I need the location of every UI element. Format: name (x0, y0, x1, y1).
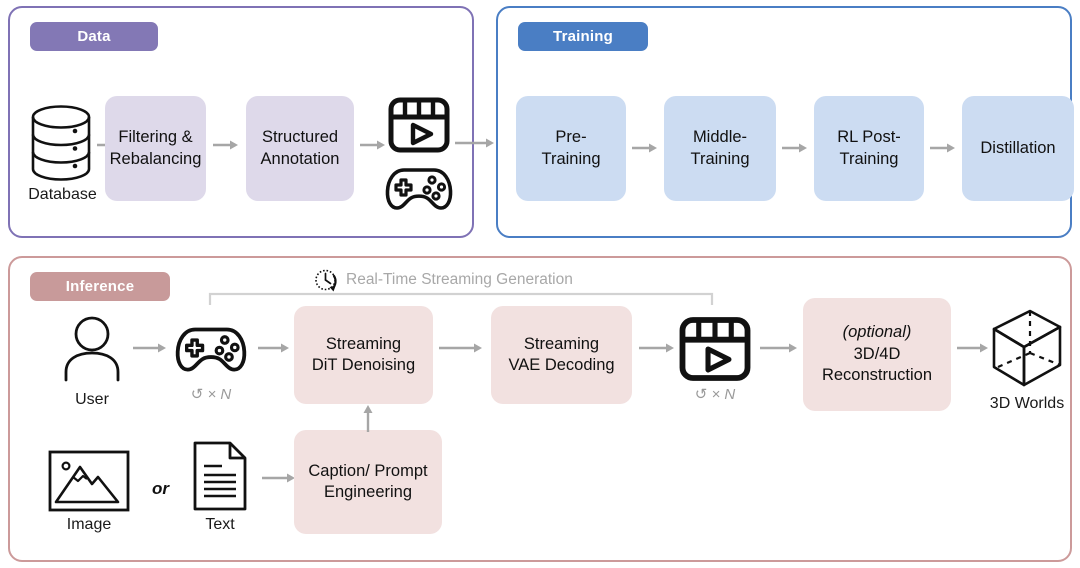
box-3d4d-reconstruction-line3: Reconstruction (822, 365, 932, 386)
text-document-icon (192, 440, 248, 512)
badge-data: Data (30, 22, 158, 51)
controller-loop-text: × N (207, 386, 231, 403)
arrow-caption-to-dit (362, 404, 374, 432)
image-caption: Image (45, 516, 133, 534)
gamepad-icon (384, 163, 454, 213)
box-streaming-dit-denoising: Streaming DiT Denoising (294, 306, 433, 404)
box-caption-prompt-engineering-label: Caption/ Prompt Engineering (308, 461, 427, 503)
loop-title: Real-Time Streaming Generation (346, 271, 573, 289)
arrow-rl-to-distillation (930, 142, 956, 154)
video-icon (388, 97, 450, 153)
loop-glyph: ↺ (191, 386, 204, 403)
box-rl-post-training: RL Post- Training (814, 96, 924, 201)
badge-training: Training (518, 22, 648, 51)
arrow-controller-to-dit (258, 342, 290, 354)
video-icon (679, 316, 751, 382)
box-rl-post-training-label: RL Post- Training (837, 127, 901, 169)
panel-training: Training Pre- Training Middle- Training … (496, 6, 1072, 238)
arrow-filtering-to-annotation (213, 139, 239, 151)
panel-data: Data Database Filtering & Rebalancing (8, 6, 474, 238)
diagram-root: Data Database Filtering & Rebalancing (0, 0, 1080, 568)
panel-inference: Inference Real-Time Streaming Generation (8, 256, 1072, 562)
arrow-annotation-to-outputs (360, 139, 386, 151)
box-distillation-label: Distillation (980, 138, 1055, 159)
box-streaming-vae-decoding: Streaming VAE Decoding (491, 306, 632, 404)
box-filtering-rebalancing-label: Filtering & Rebalancing (110, 127, 202, 169)
box-3d4d-reconstruction: (optional) 3D/4D Reconstruction (803, 298, 951, 411)
box-streaming-dit-denoising-label: Streaming DiT Denoising (312, 334, 415, 376)
user-caption: User (52, 391, 132, 409)
arrow-text-to-caption (262, 472, 296, 484)
box-pre-training: Pre- Training (516, 96, 626, 201)
arrow-video-to-reconstruction (760, 342, 798, 354)
video-loop-text: × N (711, 386, 735, 403)
loop-bracket (208, 291, 714, 307)
box-middle-training: Middle- Training (664, 96, 776, 201)
user-icon (61, 314, 123, 382)
cube-icon (988, 305, 1066, 391)
gamepad-icon (174, 322, 248, 375)
arrow-data-to-training (455, 137, 495, 149)
image-icon (48, 450, 130, 512)
box-filtering-rebalancing: Filtering & Rebalancing (105, 96, 206, 201)
box-caption-prompt-engineering: Caption/ Prompt Engineering (294, 430, 442, 534)
or-label: or (152, 479, 169, 499)
controller-loop-sublabel: ↺ × N (165, 385, 257, 403)
arrow-pre-to-middle (632, 142, 658, 154)
arrow-user-to-controller (133, 342, 167, 354)
database-caption: Database (10, 186, 115, 204)
box-3d4d-reconstruction-line2: 3D/4D (854, 344, 901, 365)
box-structured-annotation-label: Structured Annotation (261, 127, 340, 169)
arrow-vae-to-video (639, 342, 675, 354)
box-3d4d-reconstruction-optional: (optional) (843, 322, 912, 343)
arrow-reconstruction-to-worlds (957, 342, 989, 354)
box-middle-training-label: Middle- Training (691, 127, 750, 169)
badge-inference: Inference (30, 272, 170, 301)
box-structured-annotation: Structured Annotation (246, 96, 354, 201)
text-caption: Text (180, 516, 260, 534)
video-loop-sublabel: ↺ × N (669, 385, 761, 403)
database-icon (28, 104, 94, 182)
loop-glyph: ↺ (695, 386, 708, 403)
arrow-dit-to-vae (439, 342, 483, 354)
box-streaming-vae-decoding-label: Streaming VAE Decoding (508, 334, 614, 376)
box-distillation: Distillation (962, 96, 1074, 201)
box-pre-training-label: Pre- Training (542, 127, 601, 169)
cube-caption: 3D Worlds (967, 395, 1080, 413)
arrow-middle-to-rl (782, 142, 808, 154)
